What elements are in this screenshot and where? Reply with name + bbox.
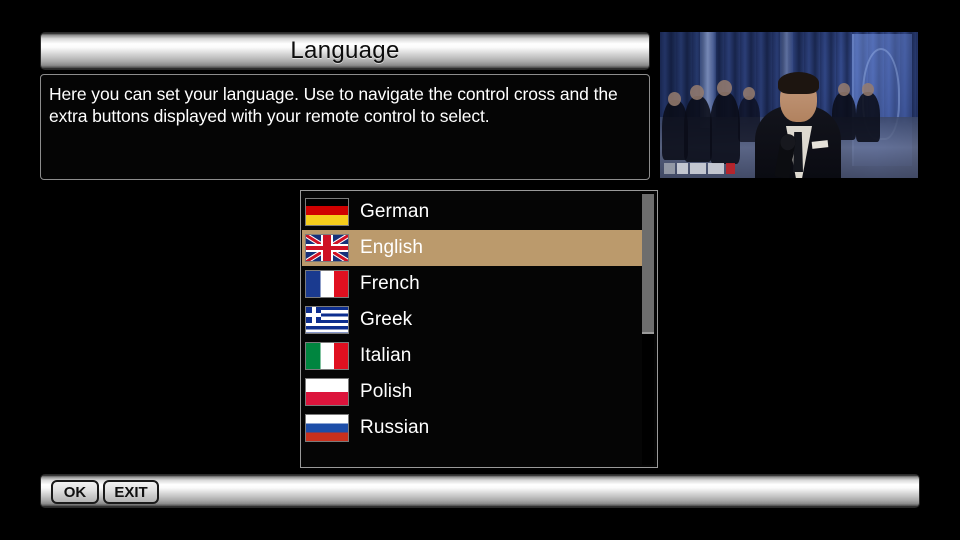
video-crowd <box>684 96 712 162</box>
pl-flag-icon <box>305 378 349 406</box>
page-title: Language <box>41 37 649 65</box>
list-item-label: French <box>360 273 420 295</box>
channel-logo-icon <box>664 162 735 175</box>
bottom-action-bar: OK EXIT <box>40 474 920 508</box>
video-crowd <box>690 85 704 100</box>
list-item-english[interactable]: English <box>302 230 642 266</box>
title-bar: Language <box>40 32 650 70</box>
list-item-label: Italian <box>360 345 411 367</box>
video-crowd <box>717 80 732 96</box>
list-item-italian[interactable]: Italian <box>302 338 642 374</box>
gb-flag-icon <box>305 234 349 262</box>
tv-settings-screen: Language Here you can set your language.… <box>0 0 960 540</box>
video-crowd <box>856 92 880 142</box>
list-item-greek[interactable]: Greek <box>302 302 642 338</box>
exit-button[interactable]: EXIT <box>103 480 159 504</box>
video-crowd <box>838 83 850 96</box>
video-crowd <box>862 83 874 96</box>
list-item-german[interactable]: German <box>302 194 642 230</box>
it-flag-icon <box>305 342 349 370</box>
scrollbar-thumb[interactable] <box>642 194 654 334</box>
ru-flag-icon <box>305 414 349 442</box>
gr-flag-icon <box>305 306 349 334</box>
video-preview[interactable] <box>660 32 918 178</box>
video-crowd <box>743 87 755 100</box>
description-text: Here you can set your language. Use to n… <box>49 83 639 127</box>
video-crowd <box>710 92 740 164</box>
list-item-label: German <box>360 201 429 223</box>
list-item-polish[interactable]: Polish <box>302 374 642 410</box>
language-list[interactable]: German English French <box>300 190 658 468</box>
list-item-russian[interactable]: Russian <box>302 410 642 446</box>
fr-flag-icon <box>305 270 349 298</box>
language-list-rows: German English French <box>302 194 642 446</box>
description-panel: Here you can set your language. Use to n… <box>40 74 650 180</box>
video-crowd <box>668 92 681 106</box>
list-item-label: Polish <box>360 381 412 403</box>
list-item-label: Greek <box>360 309 412 331</box>
list-item-label: Russian <box>360 417 429 439</box>
list-item-label: English <box>360 237 423 259</box>
ok-button[interactable]: OK <box>51 480 99 504</box>
video-reporter-hair <box>778 72 819 94</box>
de-flag-icon <box>305 198 349 226</box>
list-scrollbar[interactable] <box>642 193 654 465</box>
list-item-french[interactable]: French <box>302 266 642 302</box>
